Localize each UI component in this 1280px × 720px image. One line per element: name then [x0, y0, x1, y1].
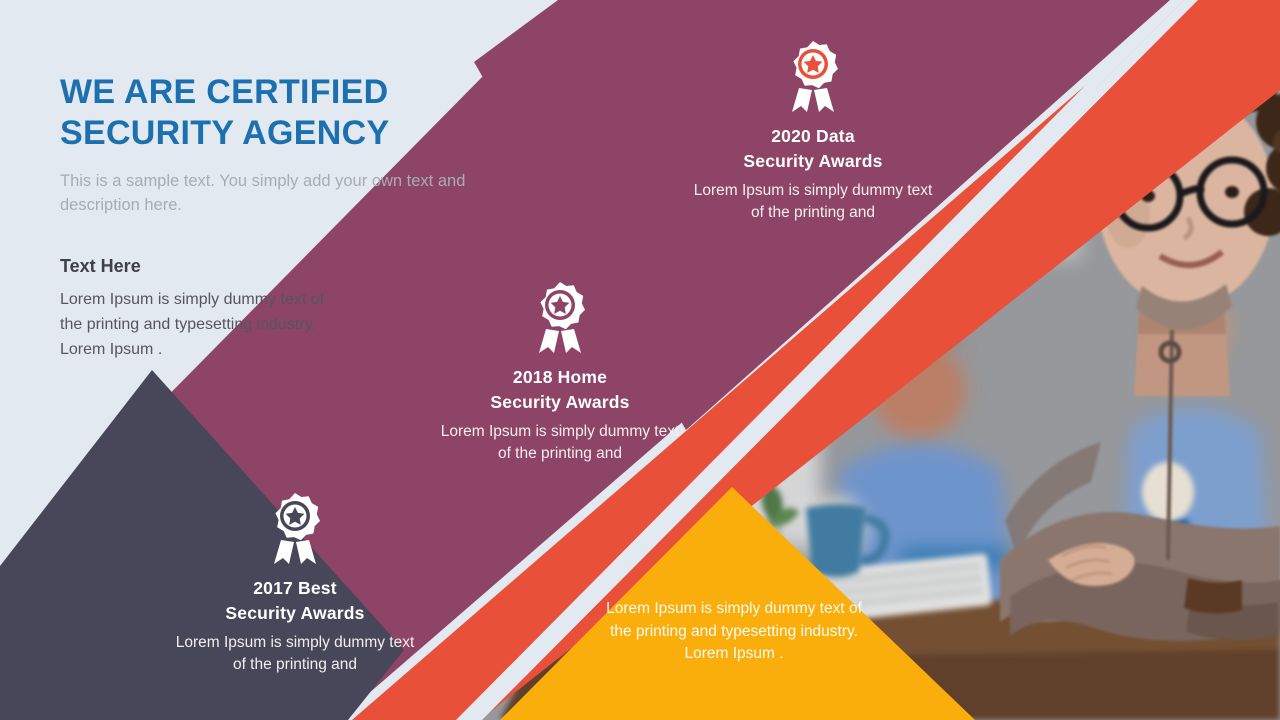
award-ribbon-icon	[264, 492, 326, 566]
award-title-line2: Security Awards	[490, 392, 629, 412]
award-panel-2020[interactable]: 2020 Data Security Awards Lorem Ipsum is…	[690, 40, 936, 224]
award-title-line2: Security Awards	[225, 603, 364, 623]
award-ribbon-icon	[782, 40, 844, 114]
page-title: WE ARE CERTIFIED SECURITY AGENCY	[60, 72, 490, 154]
award-body-2017: Lorem Ipsum is simply dummy text of the …	[172, 632, 418, 676]
page-subtitle: This is a sample text. You simply add yo…	[60, 170, 485, 218]
award-panel-2018[interactable]: 2018 Home Security Awards Lorem Ipsum is…	[437, 281, 683, 465]
page-title-line1: WE ARE CERTIFIED	[60, 73, 388, 111]
award-ribbon-icon	[529, 281, 591, 355]
award-title-line1: 2017 Best	[253, 578, 337, 598]
award-panel-2017[interactable]: 2017 Best Security Awards Lorem Ipsum is…	[172, 492, 418, 676]
award-title-line2: Security Awards	[743, 151, 882, 171]
slide-canvas: WE ARE CERTIFIED SECURITY AGENCY This is…	[0, 0, 1280, 720]
award-body-2018: Lorem Ipsum is simply dummy text of the …	[437, 421, 683, 465]
callout-text: Lorem Ipsum is simply dummy text of the …	[600, 598, 868, 666]
award-title-line1: 2020 Data	[771, 126, 855, 146]
award-title-2020: 2020 Data Security Awards	[690, 124, 936, 175]
headline-block: WE ARE CERTIFIED SECURITY AGENCY This is…	[60, 72, 490, 217]
section-body: Lorem Ipsum is simply dummy text of the …	[60, 288, 345, 362]
award-title-2018: 2018 Home Security Awards	[437, 365, 683, 416]
award-body-2020: Lorem Ipsum is simply dummy text of the …	[690, 180, 936, 224]
section-heading: Text Here	[60, 256, 141, 277]
page-title-line2: SECURITY AGENCY	[60, 114, 389, 152]
award-title-line1: 2018 Home	[513, 367, 607, 387]
award-title-2017: 2017 Best Security Awards	[172, 576, 418, 627]
